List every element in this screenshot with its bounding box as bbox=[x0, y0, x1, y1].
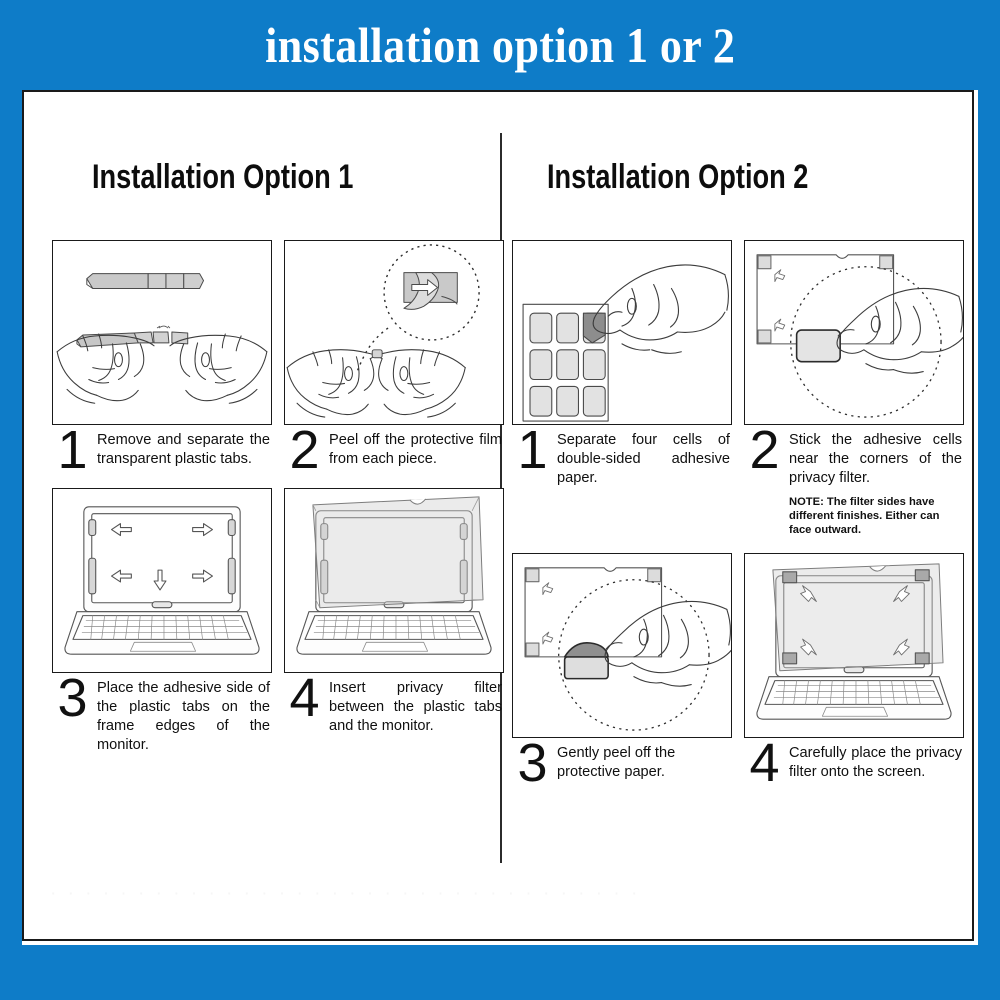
step-text-block: 1 Separate four cells of double-sided ad… bbox=[512, 427, 732, 488]
step-number: 3 bbox=[512, 741, 552, 785]
option1-row-1: 1 Remove and separate the transparent pl… bbox=[52, 240, 504, 472]
step-number: 2 bbox=[744, 428, 784, 472]
figure-hand-picking-cell-from-adhesive-sheet bbox=[512, 240, 732, 425]
instruction-sheet: Installation Option 1 Installation Optio… bbox=[22, 90, 978, 945]
option2-row-2: 3 Gently peel off the protective paper. bbox=[512, 553, 964, 785]
figure-laptop-with-privacy-filter-inserted bbox=[284, 488, 504, 673]
banner-title: installation option 1 or 2 bbox=[265, 16, 735, 74]
step-description: Gently peel off the protective paper. bbox=[557, 740, 730, 782]
step-text-block: 4 Carefully place the privacy filter ont… bbox=[744, 740, 964, 785]
step-note: NOTE: The filter sides have different fi… bbox=[789, 495, 962, 537]
option1-step-4: 4 Insert privacy filter between the plas… bbox=[284, 488, 504, 755]
step-description: Place the adhesive side of the plastic t… bbox=[97, 675, 270, 755]
figure-laptop-screen-with-four-tabs-and-arrows bbox=[52, 488, 272, 673]
step-number: 1 bbox=[512, 428, 552, 472]
figure-hands-peeling-film-with-callout-bubble bbox=[284, 240, 504, 425]
step-description: Stick the adhesive cells near the corner… bbox=[789, 427, 962, 488]
option2-step-4: 4 Carefully place the privacy filter ont… bbox=[744, 553, 964, 785]
figure-filter-corners-with-magnifier-hand-peeling-backing bbox=[512, 553, 732, 738]
step-number: 1 bbox=[52, 428, 92, 472]
option2-step-2: 2 Stick the adhesive cells near the corn… bbox=[744, 240, 964, 537]
step-text-block: 2 Peel off the protective film from each… bbox=[284, 427, 504, 472]
figure-laptop-with-filter-and-four-corner-pads bbox=[744, 553, 964, 738]
step-text-block: 2 Stick the adhesive cells near the corn… bbox=[744, 427, 964, 537]
option1-step-3: 3 Place the adhesive side of the plastic… bbox=[52, 488, 272, 755]
step-description: Insert privacy filter between the plasti… bbox=[329, 675, 502, 736]
step-number: 4 bbox=[284, 676, 324, 720]
step-text-block: 3 Place the adhesive side of the plastic… bbox=[52, 675, 272, 755]
step-number: 4 bbox=[744, 741, 784, 785]
step-description: Peel off the protective film from each p… bbox=[329, 427, 502, 469]
step-description: Remove and separate the transparent plas… bbox=[97, 427, 270, 469]
heading-option-2: Installation Option 2 bbox=[547, 158, 808, 197]
option1-step-1: 1 Remove and separate the transparent pl… bbox=[52, 240, 272, 472]
step-description: Carefully place the privacy filter onto … bbox=[789, 740, 962, 782]
heading-option-1: Installation Option 1 bbox=[92, 158, 353, 197]
option2-step-1: 1 Separate four cells of double-sided ad… bbox=[512, 240, 732, 537]
step-text-block: 4 Insert privacy filter between the plas… bbox=[284, 675, 504, 736]
option2-step-3: 3 Gently peel off the protective paper. bbox=[512, 553, 732, 785]
step-description: Separate four cells of double-sided adhe… bbox=[557, 427, 730, 488]
figure-filter-corners-with-magnifier-hand-placing-cell bbox=[744, 240, 964, 425]
watermark: · · · · · · · · · · · · · · · · · · · · … bbox=[50, 883, 950, 909]
instruction-poster: installation option 1 or 2 Installation … bbox=[0, 0, 1000, 1000]
banner: installation option 1 or 2 bbox=[0, 0, 1000, 90]
step-number: 3 bbox=[52, 676, 92, 720]
column-option-2: 1 Separate four cells of double-sided ad… bbox=[512, 240, 964, 785]
step-text-block: 3 Gently peel off the protective paper. bbox=[512, 740, 732, 785]
figure-plastic-tab-strip-separated-by-two-hands bbox=[52, 240, 272, 425]
step-number: 2 bbox=[284, 428, 324, 472]
column-option-1: 1 Remove and separate the transparent pl… bbox=[52, 240, 504, 755]
option1-step-2: 2 Peel off the protective film from each… bbox=[284, 240, 504, 472]
option1-row-2: 3 Place the adhesive side of the plastic… bbox=[52, 488, 504, 755]
step-text-block: 1 Remove and separate the transparent pl… bbox=[52, 427, 272, 472]
option2-row-1: 1 Separate four cells of double-sided ad… bbox=[512, 240, 964, 537]
